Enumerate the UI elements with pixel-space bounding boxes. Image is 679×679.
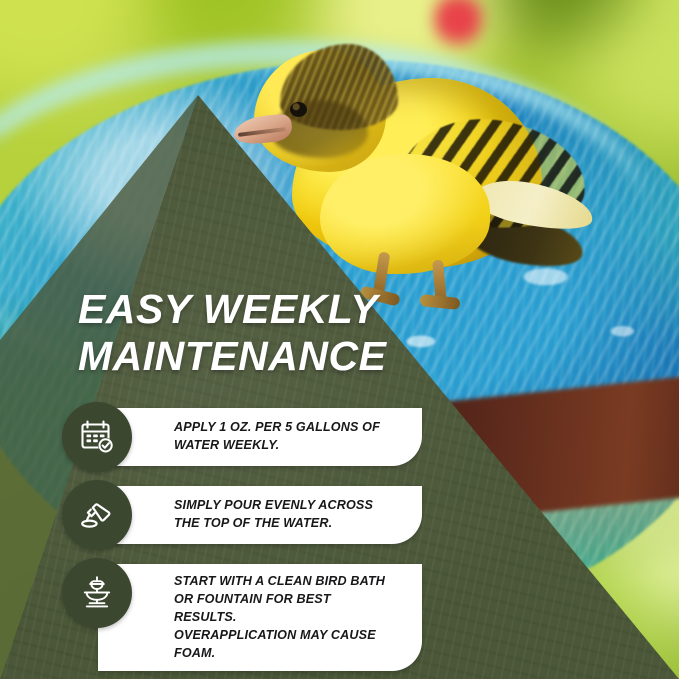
pouring-bottle-icon [62, 480, 132, 550]
feature-text-line: SIMPLY POUR EVENLY ACROSS [174, 497, 373, 515]
feature-text: START WITH A CLEAN BIRD BATH OR FOUNTAIN… [174, 573, 392, 662]
feature-card: SIMPLY POUR EVENLY ACROSS THE TOP OF THE… [98, 486, 422, 544]
list-item: START WITH A CLEAN BIRD BATH OR FOUNTAIN… [62, 558, 422, 638]
list-item: APPLY 1 OZ. PER 5 GALLONS OF WATER WEEKL… [62, 402, 422, 472]
calendar-check-icon [62, 402, 132, 472]
fountain-icon [62, 558, 132, 628]
feature-text: APPLY 1 OZ. PER 5 GALLONS OF WATER WEEKL… [174, 419, 380, 455]
feature-text-line: WATER WEEKLY. [174, 437, 380, 455]
feature-card: APPLY 1 OZ. PER 5 GALLONS OF WATER WEEKL… [98, 408, 422, 466]
headline-line-1: EASY WEEKLY [78, 286, 378, 332]
feature-card: START WITH A CLEAN BIRD BATH OR FOUNTAIN… [98, 564, 422, 671]
feature-text: SIMPLY POUR EVENLY ACROSS THE TOP OF THE… [174, 497, 373, 533]
headline-line-2: MAINTENANCE [78, 333, 498, 380]
feature-text-line: OVERAPPLICATION MAY CAUSE FOAM. [174, 627, 392, 663]
feature-text-line: OR FOUNTAIN FOR BEST RESULTS. [174, 591, 392, 627]
feature-text-line: THE TOP OF THE WATER. [174, 515, 373, 533]
product-infographic-poster: EASY WEEKLY MAINTENANCE APPLY 1 OZ. PER … [0, 0, 679, 679]
page-title: EASY WEEKLY MAINTENANCE [78, 286, 498, 379]
poster-content: EASY WEEKLY MAINTENANCE APPLY 1 OZ. PER … [0, 0, 679, 679]
feature-text-line: APPLY 1 OZ. PER 5 GALLONS OF [174, 419, 380, 437]
feature-text-line: START WITH A CLEAN BIRD BATH [174, 573, 392, 591]
feature-list: APPLY 1 OZ. PER 5 GALLONS OF WATER WEEKL… [62, 402, 422, 646]
list-item: SIMPLY POUR EVENLY ACROSS THE TOP OF THE… [62, 480, 422, 550]
